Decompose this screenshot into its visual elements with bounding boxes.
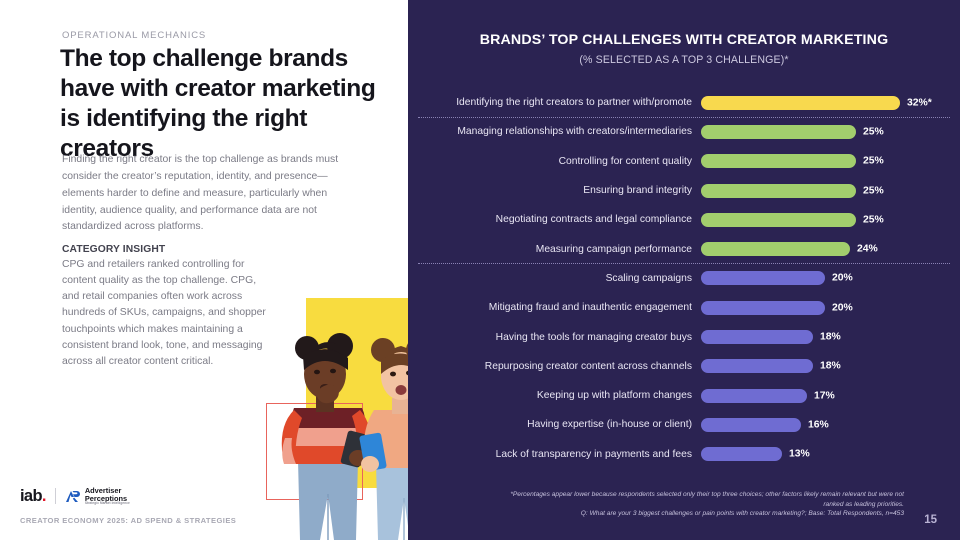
iab-logo: iab. — [20, 488, 46, 505]
iab-logo-dot: . — [42, 487, 46, 505]
bar-value-label: 13% — [789, 449, 810, 460]
bar-fill — [701, 447, 782, 461]
bar-row: Managing relationships with creators/int… — [408, 117, 960, 146]
bar-track: 13% — [701, 440, 960, 469]
bar-value-label: 20% — [832, 302, 853, 313]
body-paragraph: Finding the right creator is the top cha… — [62, 152, 352, 236]
footnote-line-3: Q: What are your 3 biggest challenges or… — [581, 510, 904, 517]
brand-divider — [55, 488, 56, 504]
bar-row: Measuring campaign performance24% — [408, 234, 960, 263]
chart-title: BRANDS’ TOP CHALLENGES WITH CREATOR MARK… — [408, 32, 960, 48]
bar-row: Lack of transparency in payments and fee… — [408, 440, 960, 469]
bar-track: 18% — [701, 352, 960, 381]
bar-fill — [701, 184, 856, 198]
bar-category-label: Keeping up with platform changes — [408, 390, 701, 401]
bar-category-label: Mitigating fraud and inauthentic engagem… — [408, 302, 701, 313]
ap-mark-icon — [65, 490, 81, 503]
bar-category-label: Having the tools for managing creator bu… — [408, 332, 701, 343]
bar-value-label: 18% — [820, 361, 841, 372]
bar-fill — [701, 154, 856, 168]
bar-track: 20% — [701, 293, 960, 322]
section-eyebrow: OPERATIONAL MECHANICS — [62, 30, 206, 41]
bar-track: 17% — [701, 381, 960, 410]
chart-panel: BRANDS’ TOP CHALLENGES WITH CREATOR MARK… — [408, 0, 960, 540]
bar-value-label: 16% — [808, 419, 829, 430]
bar-fill — [701, 418, 801, 432]
bar-track: 25% — [701, 147, 960, 176]
bar-row: Having the tools for managing creator bu… — [408, 322, 960, 351]
bar-category-label: Lack of transparency in payments and fee… — [408, 449, 701, 460]
bar-category-label: Identifying the right creators to partne… — [408, 97, 701, 108]
chart-footnote: *Percentages appear lower because respon… — [492, 490, 904, 519]
ap-line-3: Strategic Market Intelligence — [85, 502, 130, 505]
bar-fill — [701, 330, 813, 344]
bar-value-label: 20% — [832, 273, 853, 284]
bar-value-label: 17% — [814, 390, 835, 401]
bar-category-label: Having expertise (in-house or client) — [408, 419, 701, 430]
bar-track: 16% — [701, 410, 960, 439]
bar-fill — [701, 125, 856, 139]
bar-category-label: Scaling campaigns — [408, 273, 701, 284]
bar-row: Mitigating fraud and inauthentic engagem… — [408, 293, 960, 322]
bar-category-label: Controlling for content quality — [408, 156, 701, 167]
bar-category-label: Negotiating contracts and legal complian… — [408, 214, 701, 225]
bar-value-label: 18% — [820, 332, 841, 343]
footnote-line-2: remain relevant but were not ranked as l… — [820, 491, 904, 508]
left-content-panel: OPERATIONAL MECHANICS The top challenge … — [0, 0, 408, 540]
bar-category-label: Ensuring brand integrity — [408, 185, 701, 196]
bar-row: Identifying the right creators to partne… — [408, 88, 960, 117]
page-title: The top challenge brands have with creat… — [60, 44, 380, 164]
deck-footer-label: CREATOR ECONOMY 2025: AD SPEND & STRATEG… — [20, 516, 236, 525]
bar-value-label: 25% — [863, 156, 884, 167]
bar-track: 20% — [701, 264, 960, 293]
bar-row: Scaling campaigns20% — [408, 264, 960, 293]
brand-logos: iab. Advertiser Perceptions Strategic Ma… — [20, 487, 130, 505]
bar-value-label: 32%* — [907, 97, 932, 108]
bar-track: 25% — [701, 176, 960, 205]
bar-row: Having expertise (in-house or client)16% — [408, 410, 960, 439]
bar-row: Negotiating contracts and legal complian… — [408, 205, 960, 234]
bar-fill — [701, 359, 813, 373]
bar-fill — [701, 301, 825, 315]
bar-fill — [701, 242, 850, 256]
bar-chart-rows: Identifying the right creators to partne… — [408, 88, 960, 469]
iab-logo-text: iab — [20, 487, 42, 505]
bar-track: 25% — [701, 205, 960, 234]
bar-value-label: 25% — [863, 214, 884, 225]
page-number: 15 — [924, 514, 937, 526]
category-insight-heading: CATEGORY INSIGHT — [62, 244, 165, 255]
bar-fill — [701, 389, 807, 403]
bar-track: 18% — [701, 322, 960, 351]
bar-fill — [701, 213, 856, 227]
slide-root: OPERATIONAL MECHANICS The top challenge … — [0, 0, 960, 540]
footnote-line-1: *Percentages appear lower because respon… — [510, 491, 818, 498]
advertiser-perceptions-logo: Advertiser Perceptions Strategic Market … — [65, 487, 130, 505]
bar-value-label: 24% — [857, 244, 878, 255]
bar-value-label: 25% — [863, 185, 884, 196]
bar-row: Controlling for content quality25% — [408, 147, 960, 176]
bar-category-label: Managing relationships with creators/int… — [408, 126, 701, 137]
ap-wordmark: Advertiser Perceptions Strategic Market … — [85, 487, 130, 505]
bar-category-label: Measuring campaign performance — [408, 244, 701, 255]
bar-track: 24% — [701, 234, 960, 263]
chart-subtitle: (% SELECTED AS A TOP 3 CHALLENGE)* — [408, 54, 960, 66]
bar-track: 32%* — [701, 88, 960, 117]
category-insight-body: CPG and retailers ranked controlling for… — [62, 257, 267, 370]
bar-fill — [701, 271, 825, 285]
bar-value-label: 25% — [863, 126, 884, 137]
bar-row: Ensuring brand integrity25% — [408, 176, 960, 205]
bar-category-label: Repurposing creator content across chann… — [408, 361, 701, 372]
bar-row: Keeping up with platform changes17% — [408, 381, 960, 410]
bar-fill — [701, 96, 900, 110]
bar-track: 25% — [701, 117, 960, 146]
bar-row: Repurposing creator content across chann… — [408, 352, 960, 381]
